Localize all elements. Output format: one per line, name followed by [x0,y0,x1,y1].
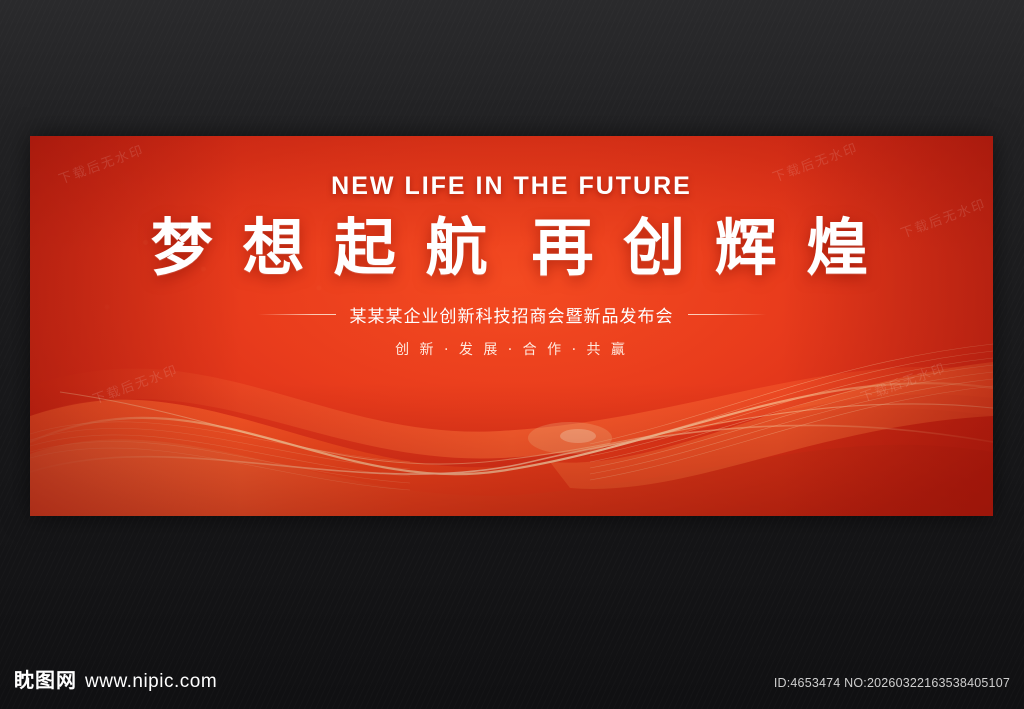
wave-ribbon-artwork [30,266,993,516]
watermark-1: 下载后无水印 [55,139,146,188]
banner-image: NEW LIFE IN THE FUTURE 梦 想 起 航再 创 辉 煌 某某… [30,136,993,516]
footer-bar: 眈图网 www.nipic.com ID:4653474 NO:20260322… [0,649,1024,709]
banner-eyebrow: NEW LIFE IN THE FUTURE [30,172,993,201]
brand-url[interactable]: www.nipic.com [85,671,217,693]
brand-name-cn: 眈图网 [14,664,77,693]
site-brand[interactable]: 眈图网 www.nipic.com [14,664,217,693]
page-background: NEW LIFE IN THE FUTURE 梦 想 起 航再 创 辉 煌 某某… [0,0,1024,709]
watermark-2: 下载后无水印 [769,137,860,186]
watermark-3: 下载后无水印 [897,193,988,242]
image-meta-id: ID:4653474 NO:20260322163538405107 [774,676,1010,690]
